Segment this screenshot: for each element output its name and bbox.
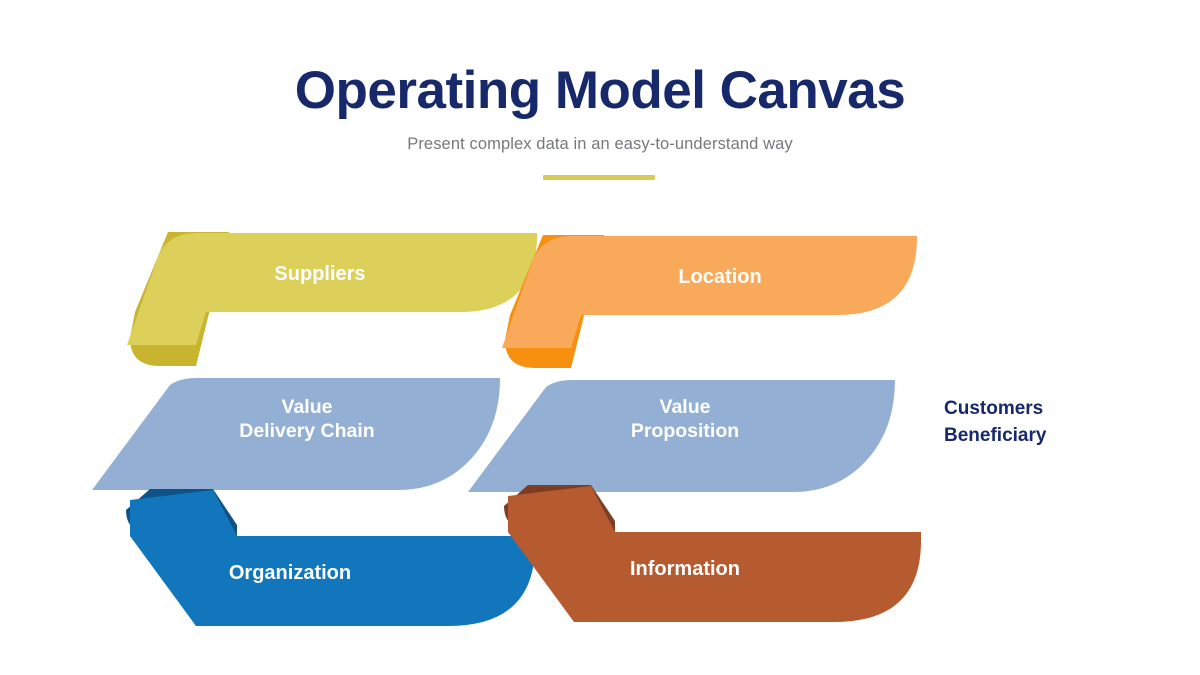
operating-model-diagram (0, 0, 1200, 675)
customers-beneficiary-note: Customers Beneficiary (944, 396, 1164, 450)
slide-canvas: Operating Model Canvas Present complex d… (0, 0, 1200, 675)
ribbon-suppliers-body[interactable] (127, 233, 537, 345)
ribbon-information-body[interactable] (508, 486, 921, 622)
ribbon-value-proposition-body[interactable] (468, 380, 895, 492)
ribbon-organization-body[interactable] (130, 490, 535, 626)
ribbon-location-body[interactable] (502, 236, 917, 348)
ribbon-value-delivery-chain-body[interactable] (92, 378, 500, 490)
